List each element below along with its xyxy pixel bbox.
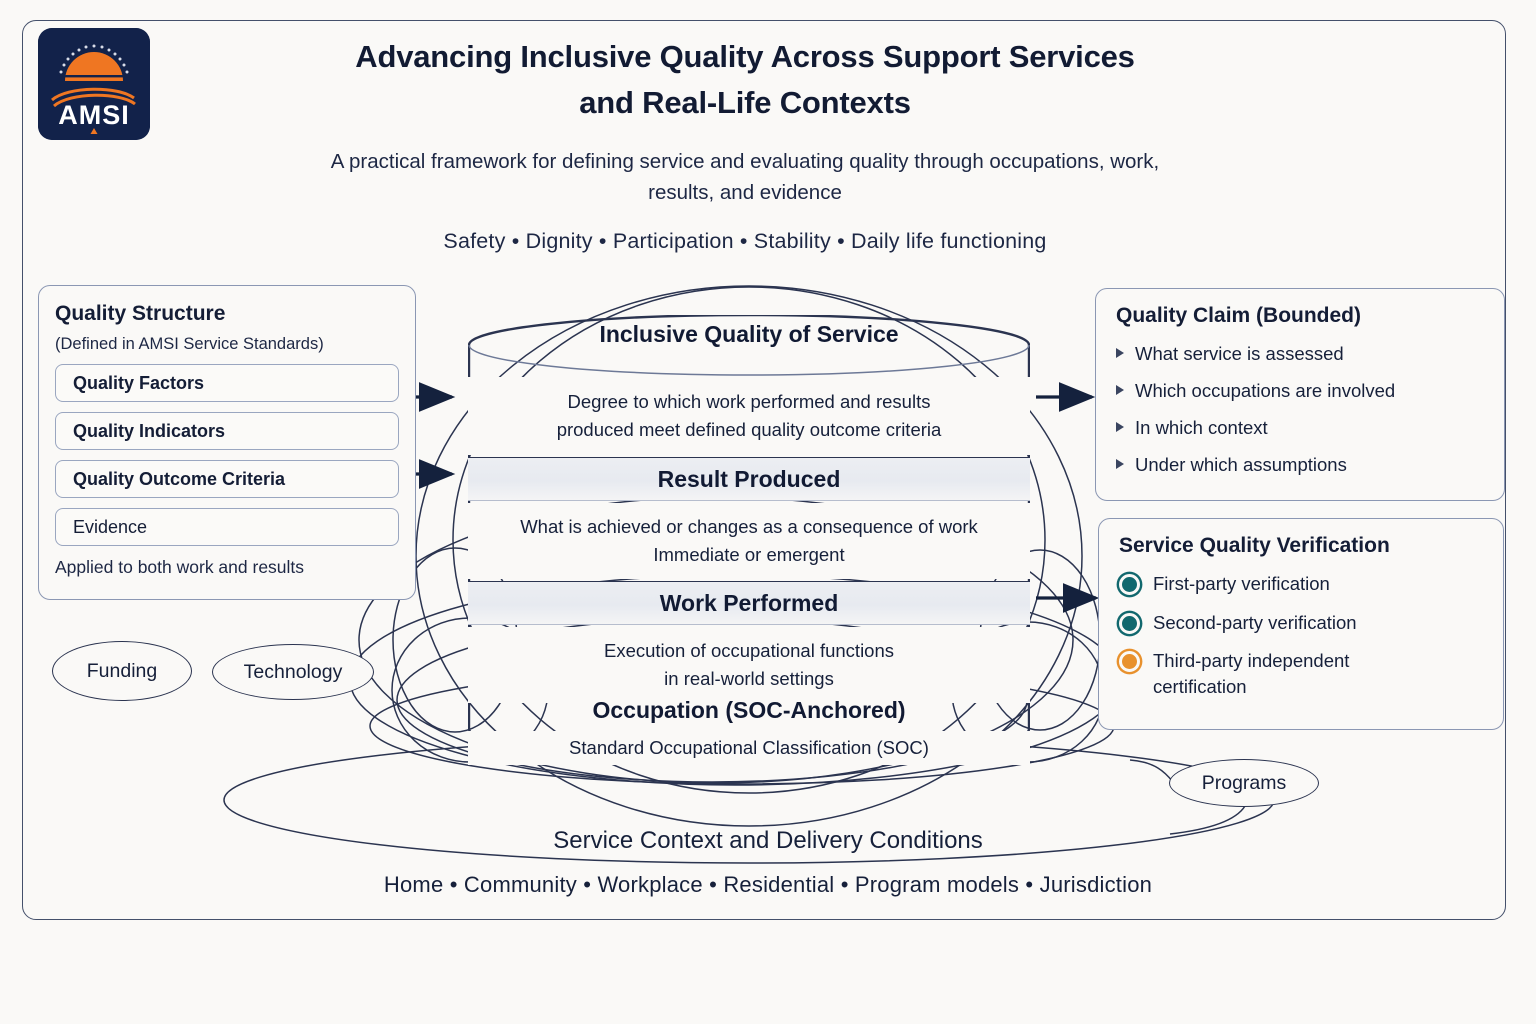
node-label: Technology <box>244 661 343 684</box>
verification-title: Service Quality Verification <box>1119 534 1487 558</box>
verification-item-third-party: Third-party independent certification <box>1119 648 1487 699</box>
layer-line: What is achieved or changes as a consequ… <box>520 513 978 541</box>
amsi-logo: AMSI <box>38 28 150 140</box>
stack-layer-work-performed: Work Performed Execution of occupational… <box>468 581 1030 703</box>
layer-body: Degree to which work performed and resul… <box>468 377 1030 455</box>
chip-label: Quality Indicators <box>73 421 225 442</box>
page-title-line1: Advancing Inclusive Quality Across Suppo… <box>170 34 1320 80</box>
quality-claim-panel: Quality Claim (Bounded) What service is … <box>1095 288 1505 501</box>
quality-structure-item-quality-factors[interactable]: Quality Factors <box>55 364 399 402</box>
layer-body: What is achieved or changes as a consequ… <box>468 503 1030 579</box>
page-subtitle-line1: A practical framework for defining servi… <box>170 147 1320 178</box>
triangle-bullet-icon <box>1116 348 1124 358</box>
ring-dot-icon <box>1119 613 1140 634</box>
service-context-items: Home • Community • Workplace • Residenti… <box>0 872 1536 898</box>
ring-dot-icon <box>1119 574 1140 595</box>
cylinder-stack: Inclusive Quality of Service Degree to w… <box>468 315 1030 760</box>
verification-item-second-party: Second-party verification <box>1119 610 1487 636</box>
quality-structure-footnote: Applied to both work and results <box>55 557 399 578</box>
quality-claim-item-1: Which occupations are involved <box>1116 380 1488 402</box>
satellite-node-programs[interactable]: Programs <box>1169 759 1319 807</box>
claim-label: Under which assumptions <box>1135 454 1347 476</box>
diagram-canvas: AMSI Advancing Inclusive Quality Across … <box>0 0 1536 1024</box>
amsi-logo-mark: AMSI <box>38 28 150 140</box>
service-context-title: Service Context and Delivery Conditions <box>0 827 1536 855</box>
triangle-bullet-icon <box>1116 385 1124 395</box>
header-block: Advancing Inclusive Quality Across Suppo… <box>170 34 1320 254</box>
stack-layer-inclusive-quality-of-service: Inclusive Quality of Service Degree to w… <box>468 315 1030 455</box>
page-title: Advancing Inclusive Quality Across Suppo… <box>170 34 1320 125</box>
layer-label: Work Performed <box>660 590 839 617</box>
quality-claim-item-0: What service is assessed <box>1116 343 1488 365</box>
page-subtitle: A practical framework for defining servi… <box>170 147 1320 209</box>
satellite-node-funding[interactable]: Funding <box>52 641 192 701</box>
satellite-node-technology[interactable]: Technology <box>212 644 374 700</box>
claim-label: What service is assessed <box>1135 343 1344 365</box>
stack-layer-result-produced: Result Produced What is achieved or chan… <box>468 457 1030 579</box>
svg-text:AMSI: AMSI <box>58 100 130 130</box>
quality-structure-title: Quality Structure <box>55 302 399 326</box>
chip-label: Quality Factors <box>73 373 204 394</box>
chip-label: Quality Outcome Criteria <box>73 469 285 490</box>
quality-structure-panel: Quality Structure (Defined in AMSI Servi… <box>38 285 416 600</box>
layer-label: Inclusive Quality of Service <box>599 321 898 347</box>
layer-line: Standard Occupational Classification (SO… <box>569 734 929 762</box>
layer-line: Degree to which work performed and resul… <box>568 388 931 416</box>
triangle-bullet-icon <box>1116 459 1124 469</box>
claim-label: Which occupations are involved <box>1135 380 1395 402</box>
triangle-bullet-icon <box>1116 422 1124 432</box>
ring-dot-icon <box>1119 651 1140 672</box>
page-title-line2: and Real-Life Contexts <box>170 80 1320 126</box>
layer-line: in real-world settings <box>664 665 834 693</box>
layer-body: Standard Occupational Classification (SO… <box>468 731 1030 765</box>
layer-line: Immediate or emergent <box>653 541 844 569</box>
layer-band: Work Performed <box>468 581 1030 625</box>
quality-structure-item-evidence[interactable]: Evidence <box>55 508 399 546</box>
verification-label: First-party verification <box>1153 571 1330 597</box>
quality-structure-item-quality-outcome-criteria[interactable]: Quality Outcome Criteria <box>55 460 399 498</box>
quality-structure-subtitle: (Defined in AMSI Service Standards) <box>55 335 399 354</box>
verification-item-first-party: First-party verification <box>1119 571 1487 597</box>
quality-claim-title: Quality Claim (Bounded) <box>1116 304 1488 328</box>
layer-line: Execution of occupational functions <box>604 637 894 665</box>
node-label: Funding <box>87 660 157 683</box>
stack-layer-occupation: Occupation (SOC-Anchored) Standard Occup… <box>468 697 1030 777</box>
layer-label: Occupation (SOC-Anchored) <box>592 697 905 723</box>
verification-label: Second-party verification <box>1153 610 1357 636</box>
verification-label: Third-party independent certification <box>1153 648 1408 699</box>
layer-line: produced meet defined quality outcome cr… <box>557 416 942 444</box>
pillars-line: Safety • Dignity • Participation • Stabi… <box>170 229 1320 254</box>
quality-structure-item-quality-indicators[interactable]: Quality Indicators <box>55 412 399 450</box>
page-subtitle-line2: results, and evidence <box>170 178 1320 209</box>
chip-label: Evidence <box>73 517 147 538</box>
node-label: Programs <box>1202 772 1287 795</box>
service-quality-verification-panel: Service Quality Verification First-party… <box>1098 518 1504 730</box>
quality-claim-item-2: In which context <box>1116 417 1488 439</box>
quality-claim-item-3: Under which assumptions <box>1116 454 1488 476</box>
claim-label: In which context <box>1135 417 1268 439</box>
layer-body: Execution of occupational functions in r… <box>468 627 1030 703</box>
layer-band: Result Produced <box>468 457 1030 501</box>
layer-label: Result Produced <box>658 466 841 493</box>
